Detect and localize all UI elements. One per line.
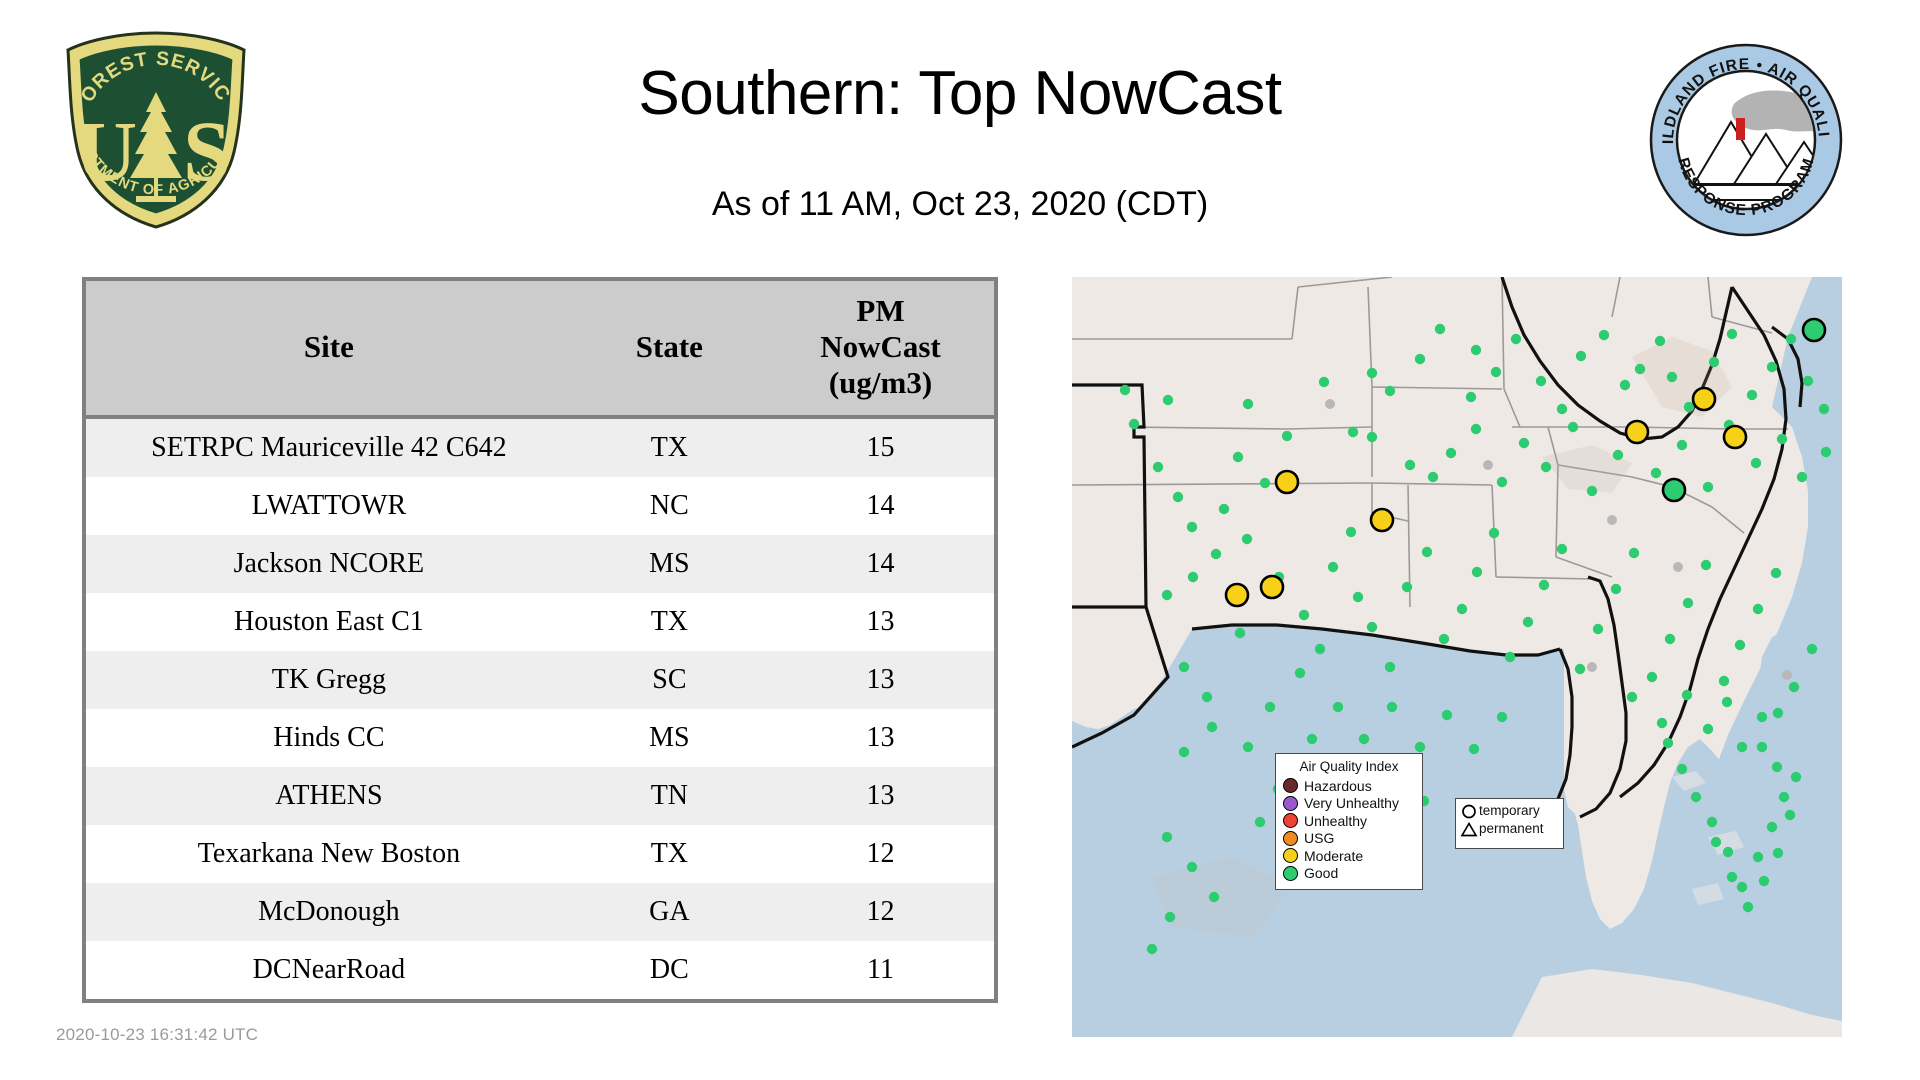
- site-cell: McDonough: [86, 883, 572, 941]
- monitor-good[interactable]: [1162, 832, 1172, 842]
- aqi-legend-label: USG: [1304, 831, 1334, 845]
- site-cell: ATHENS: [86, 767, 572, 825]
- monitor-good[interactable]: [1701, 560, 1711, 570]
- monitor-good[interactable]: [1655, 336, 1665, 346]
- table-row[interactable]: Texarkana New BostonTX12: [86, 825, 994, 883]
- monitor-good[interactable]: [1511, 334, 1521, 344]
- monitor-good[interactable]: [1472, 567, 1482, 577]
- monitor-good[interactable]: [1541, 462, 1551, 472]
- monitor-good[interactable]: [1255, 817, 1265, 827]
- monitor-good[interactable]: [1466, 392, 1476, 402]
- state-cell: TX: [572, 593, 767, 651]
- nowcast-table-container: Site State PM NowCast (ug/m3) SETRPC Mau…: [82, 277, 998, 1003]
- monitor-good[interactable]: [1611, 584, 1621, 594]
- table-row[interactable]: ATHENSTN13: [86, 767, 994, 825]
- monitor-good[interactable]: [1759, 876, 1769, 886]
- monitor-good[interactable]: [1620, 380, 1630, 390]
- monitor-good[interactable]: [1587, 486, 1597, 496]
- value-cell: 14: [767, 535, 994, 593]
- aqi-legend-row: USG: [1283, 830, 1415, 848]
- aqi-swatch-icon: [1283, 831, 1298, 846]
- monitor-good[interactable]: [1163, 395, 1173, 405]
- monitor-good[interactable]: [1519, 438, 1529, 448]
- monitor-good[interactable]: [1402, 582, 1412, 592]
- aqi-legend-label: Good: [1304, 866, 1338, 880]
- state-cell: MS: [572, 709, 767, 767]
- monitor-good[interactable]: [1179, 747, 1189, 757]
- site-cell: Texarkana New Boston: [86, 825, 572, 883]
- monitor-good[interactable]: [1576, 351, 1586, 361]
- monitor-good[interactable]: [1435, 324, 1445, 334]
- monitor-good[interactable]: [1147, 944, 1157, 954]
- aqi-legend-row: Very Unhealthy: [1283, 795, 1415, 813]
- column-header-pm-line1: PM: [856, 293, 904, 328]
- monitor-good[interactable]: [1753, 852, 1763, 862]
- site-cell: LWATTOWR: [86, 477, 572, 535]
- monitor-good[interactable]: [1677, 764, 1687, 774]
- monitor-good[interactable]: [1723, 847, 1733, 857]
- aqi-legend-label: Very Unhealthy: [1304, 796, 1399, 810]
- state-cell: MS: [572, 535, 767, 593]
- monitor-good[interactable]: [1575, 664, 1585, 674]
- value-cell: 13: [767, 709, 994, 767]
- monitor-good[interactable]: [1299, 610, 1309, 620]
- monitor-good[interactable]: [1405, 460, 1415, 470]
- state-cell: TX: [572, 825, 767, 883]
- monitor-good[interactable]: [1613, 450, 1623, 460]
- state-cell: TX: [572, 417, 767, 477]
- monitor-good[interactable]: [1789, 682, 1799, 692]
- monitor-good[interactable]: [1663, 738, 1673, 748]
- table-row[interactable]: TK GreggSC13: [86, 651, 994, 709]
- monitor-good[interactable]: [1737, 882, 1747, 892]
- column-header-pm-line3: (ug/m3): [829, 365, 932, 400]
- monitor-good[interactable]: [1773, 848, 1783, 858]
- column-header-pm-line2: NowCast: [820, 329, 941, 364]
- value-cell: 14: [767, 477, 994, 535]
- monitor-good[interactable]: [1120, 385, 1130, 395]
- monitor-good[interactable]: [1367, 622, 1377, 632]
- value-cell: 11: [767, 941, 994, 999]
- monitor-good[interactable]: [1489, 528, 1499, 538]
- monitor-good[interactable]: [1471, 424, 1481, 434]
- monitor-good[interactable]: [1187, 862, 1197, 872]
- monitor-good[interactable]: [1773, 708, 1783, 718]
- monitor-highlighted[interactable]: [1663, 479, 1685, 501]
- state-cell: NC: [572, 477, 767, 535]
- monitor-good[interactable]: [1187, 522, 1197, 532]
- monitor-good[interactable]: [1536, 376, 1546, 386]
- aqi-swatch-icon: [1283, 813, 1298, 828]
- monitor-good[interactable]: [1129, 419, 1139, 429]
- monitor-good[interactable]: [1469, 744, 1479, 754]
- monitor-good[interactable]: [1599, 330, 1609, 340]
- monitor-good[interactable]: [1803, 376, 1813, 386]
- monitor-good[interactable]: [1772, 762, 1782, 772]
- monitor-good[interactable]: [1757, 742, 1767, 752]
- monitor-good[interactable]: [1165, 912, 1175, 922]
- monitor-good[interactable]: [1771, 568, 1781, 578]
- monitor-good[interactable]: [1682, 690, 1692, 700]
- aqi-swatch-icon: [1283, 866, 1298, 881]
- monitor-good[interactable]: [1747, 390, 1757, 400]
- table-row[interactable]: SETRPC Mauriceville 42 C642TX15: [86, 417, 994, 477]
- monitor-good[interactable]: [1651, 468, 1661, 478]
- monitor-good[interactable]: [1767, 822, 1777, 832]
- monitor-good[interactable]: [1385, 386, 1395, 396]
- monitor-good[interactable]: [1457, 604, 1467, 614]
- monitor-good[interactable]: [1683, 598, 1693, 608]
- monitor-highlighted[interactable]: [1693, 388, 1715, 410]
- aqi-legend-row: Moderate: [1283, 847, 1415, 865]
- monitor-good[interactable]: [1707, 817, 1717, 827]
- monitor-good[interactable]: [1235, 628, 1245, 638]
- monitor-good[interactable]: [1753, 604, 1763, 614]
- monitor-good[interactable]: [1497, 712, 1507, 722]
- monitor-good[interactable]: [1523, 617, 1533, 627]
- aqi-legend-label: Hazardous: [1304, 779, 1372, 793]
- monitor-offline[interactable]: [1325, 399, 1335, 409]
- column-header-pm-nowcast[interactable]: PM NowCast (ug/m3): [767, 281, 994, 417]
- value-cell: 12: [767, 825, 994, 883]
- monitor-good[interactable]: [1353, 592, 1363, 602]
- monitor-highlighted[interactable]: [1803, 319, 1825, 341]
- monitor-good[interactable]: [1797, 472, 1807, 482]
- monitor-good[interactable]: [1179, 662, 1189, 672]
- monitor-good[interactable]: [1295, 668, 1305, 678]
- page-subtitle: As of 11 AM, Oct 23, 2020 (CDT): [0, 185, 1920, 224]
- monitor-good[interactable]: [1233, 452, 1243, 462]
- monitor-offline[interactable]: [1673, 562, 1683, 572]
- monitor-good[interactable]: [1767, 362, 1777, 372]
- monitor-highlighted[interactable]: [1724, 426, 1746, 448]
- monitor-good[interactable]: [1821, 447, 1831, 457]
- nowcast-table: Site State PM NowCast (ug/m3) SETRPC Mau…: [86, 281, 994, 999]
- monitor-good[interactable]: [1629, 548, 1639, 558]
- aqi-legend: Air Quality Index HazardousVery Unhealth…: [1275, 753, 1423, 890]
- monitor-good[interactable]: [1711, 837, 1721, 847]
- monitor-good[interactable]: [1415, 742, 1425, 752]
- monitor-good[interactable]: [1539, 580, 1549, 590]
- symbol-legend-row-temporary: temporary: [1460, 802, 1559, 820]
- monitor-offline[interactable]: [1607, 515, 1617, 525]
- monitor-good[interactable]: [1557, 404, 1567, 414]
- state-cell: GA: [572, 883, 767, 941]
- monitor-good[interactable]: [1415, 354, 1425, 364]
- monitor-good[interactable]: [1785, 810, 1795, 820]
- monitor-good[interactable]: [1505, 652, 1515, 662]
- monitor-good[interactable]: [1333, 702, 1343, 712]
- monitor-good[interactable]: [1439, 634, 1449, 644]
- monitor-good[interactable]: [1709, 357, 1719, 367]
- footer-timestamp: 2020-10-23 16:31:42 UTC: [56, 1025, 258, 1045]
- monitor-good[interactable]: [1719, 676, 1729, 686]
- table-row[interactable]: LWATTOWRNC14: [86, 477, 994, 535]
- monitor-good[interactable]: [1722, 697, 1732, 707]
- monitor-map[interactable]: Air Quality Index HazardousVery Unhealth…: [1072, 277, 1842, 1037]
- monitor-good[interactable]: [1209, 892, 1219, 902]
- aqi-legend-label: Moderate: [1304, 849, 1363, 863]
- state-cell: TN: [572, 767, 767, 825]
- aqi-legend-label: Unhealthy: [1304, 814, 1367, 828]
- monitor-good[interactable]: [1202, 692, 1212, 702]
- site-cell: Hinds CC: [86, 709, 572, 767]
- monitor-good[interactable]: [1319, 377, 1329, 387]
- triangle-icon: [1460, 821, 1479, 838]
- table-row[interactable]: Jackson NCOREMS14: [86, 535, 994, 593]
- value-cell: 12: [767, 883, 994, 941]
- monitor-good[interactable]: [1315, 644, 1325, 654]
- column-header-site[interactable]: Site: [86, 281, 572, 417]
- circle-icon: [1460, 803, 1479, 820]
- symbol-legend-label-temporary: temporary: [1479, 804, 1540, 818]
- monitor-good[interactable]: [1446, 448, 1456, 458]
- symbol-legend: temporary permanent: [1455, 798, 1564, 849]
- monitor-good[interactable]: [1667, 372, 1677, 382]
- value-cell: 13: [767, 593, 994, 651]
- state-cell: SC: [572, 651, 767, 709]
- monitor-highlighted[interactable]: [1371, 509, 1393, 531]
- monitor-good[interactable]: [1665, 634, 1675, 644]
- monitor-good[interactable]: [1219, 504, 1229, 514]
- monitor-offline[interactable]: [1483, 460, 1493, 470]
- monitor-good[interactable]: [1243, 742, 1253, 752]
- monitor-good[interactable]: [1593, 624, 1603, 634]
- monitor-good[interactable]: [1777, 434, 1787, 444]
- monitor-good[interactable]: [1737, 742, 1747, 752]
- monitor-good[interactable]: [1757, 712, 1767, 722]
- monitor-good[interactable]: [1188, 572, 1198, 582]
- monitor-good[interactable]: [1243, 399, 1253, 409]
- monitor-good[interactable]: [1367, 368, 1377, 378]
- value-cell: 15: [767, 417, 994, 477]
- monitor-good[interactable]: [1786, 334, 1796, 344]
- monitor-good[interactable]: [1428, 472, 1438, 482]
- monitor-good[interactable]: [1359, 734, 1369, 744]
- site-cell: Jackson NCORE: [86, 535, 572, 593]
- monitor-good[interactable]: [1751, 458, 1761, 468]
- monitor-offline[interactable]: [1782, 670, 1792, 680]
- monitor-good[interactable]: [1387, 702, 1397, 712]
- monitor-good[interactable]: [1367, 432, 1377, 442]
- monitor-good[interactable]: [1162, 590, 1172, 600]
- aqi-legend-row: Good: [1283, 865, 1415, 883]
- monitor-good[interactable]: [1779, 792, 1789, 802]
- monitor-good[interactable]: [1153, 462, 1163, 472]
- monitor-highlighted[interactable]: [1276, 471, 1298, 493]
- monitor-good[interactable]: [1211, 549, 1221, 559]
- monitor-offline[interactable]: [1587, 662, 1597, 672]
- site-cell: TK Gregg: [86, 651, 572, 709]
- value-cell: 13: [767, 767, 994, 825]
- monitor-good[interactable]: [1677, 440, 1687, 450]
- monitor-good[interactable]: [1557, 544, 1567, 554]
- monitor-good[interactable]: [1242, 534, 1252, 544]
- monitor-good[interactable]: [1260, 478, 1270, 488]
- aqi-legend-row: Unhealthy: [1283, 812, 1415, 830]
- monitor-good[interactable]: [1647, 672, 1657, 682]
- monitor-good[interactable]: [1173, 492, 1183, 502]
- monitor-good[interactable]: [1791, 772, 1801, 782]
- column-header-state[interactable]: State: [572, 281, 767, 417]
- value-cell: 13: [767, 651, 994, 709]
- monitor-highlighted[interactable]: [1261, 576, 1283, 598]
- state-cell: DC: [572, 941, 767, 999]
- table-row[interactable]: Hinds CCMS13: [86, 709, 994, 767]
- monitor-good[interactable]: [1735, 640, 1745, 650]
- monitor-good[interactable]: [1307, 734, 1317, 744]
- monitor-good[interactable]: [1207, 722, 1217, 732]
- site-cell: DCNearRoad: [86, 941, 572, 999]
- site-cell: Houston East C1: [86, 593, 572, 651]
- monitor-good[interactable]: [1743, 902, 1753, 912]
- aqi-swatch-icon: [1283, 796, 1298, 811]
- table-row[interactable]: DCNearRoadDC11: [86, 941, 994, 999]
- symbol-legend-row-permanent: permanent: [1460, 820, 1559, 838]
- monitor-good[interactable]: [1627, 692, 1637, 702]
- monitor-good[interactable]: [1385, 662, 1395, 672]
- monitor-good[interactable]: [1442, 710, 1452, 720]
- monitor-good[interactable]: [1346, 527, 1356, 537]
- aqi-swatch-icon: [1283, 778, 1298, 793]
- table-row[interactable]: Houston East C1TX13: [86, 593, 994, 651]
- monitor-good[interactable]: [1635, 364, 1645, 374]
- monitor-good[interactable]: [1727, 329, 1737, 339]
- monitor-good[interactable]: [1497, 477, 1507, 487]
- monitor-good[interactable]: [1691, 792, 1701, 802]
- monitor-good[interactable]: [1282, 431, 1292, 441]
- monitor-good[interactable]: [1568, 422, 1578, 432]
- monitor-good[interactable]: [1471, 345, 1481, 355]
- monitor-good[interactable]: [1807, 644, 1817, 654]
- monitor-good[interactable]: [1265, 702, 1275, 712]
- monitor-good[interactable]: [1348, 427, 1358, 437]
- aqi-swatch-icon: [1283, 848, 1298, 863]
- monitor-good[interactable]: [1703, 724, 1713, 734]
- aqi-legend-row: Hazardous: [1283, 777, 1415, 795]
- table-row[interactable]: McDonoughGA12: [86, 883, 994, 941]
- table-header-row: Site State PM NowCast (ug/m3): [86, 281, 994, 417]
- monitor-highlighted[interactable]: [1626, 421, 1648, 443]
- monitor-good[interactable]: [1727, 872, 1737, 882]
- monitor-good[interactable]: [1657, 718, 1667, 728]
- monitor-good[interactable]: [1328, 562, 1338, 572]
- site-cell: SETRPC Mauriceville 42 C642: [86, 417, 572, 477]
- symbol-legend-label-permanent: permanent: [1479, 822, 1544, 836]
- monitor-highlighted[interactable]: [1226, 584, 1248, 606]
- aqi-legend-title: Air Quality Index: [1283, 759, 1415, 774]
- page-title: Southern: Top NowCast: [0, 58, 1920, 129]
- monitor-good[interactable]: [1819, 404, 1829, 414]
- monitor-good[interactable]: [1422, 547, 1432, 557]
- monitor-good[interactable]: [1491, 367, 1501, 377]
- monitor-good[interactable]: [1703, 482, 1713, 492]
